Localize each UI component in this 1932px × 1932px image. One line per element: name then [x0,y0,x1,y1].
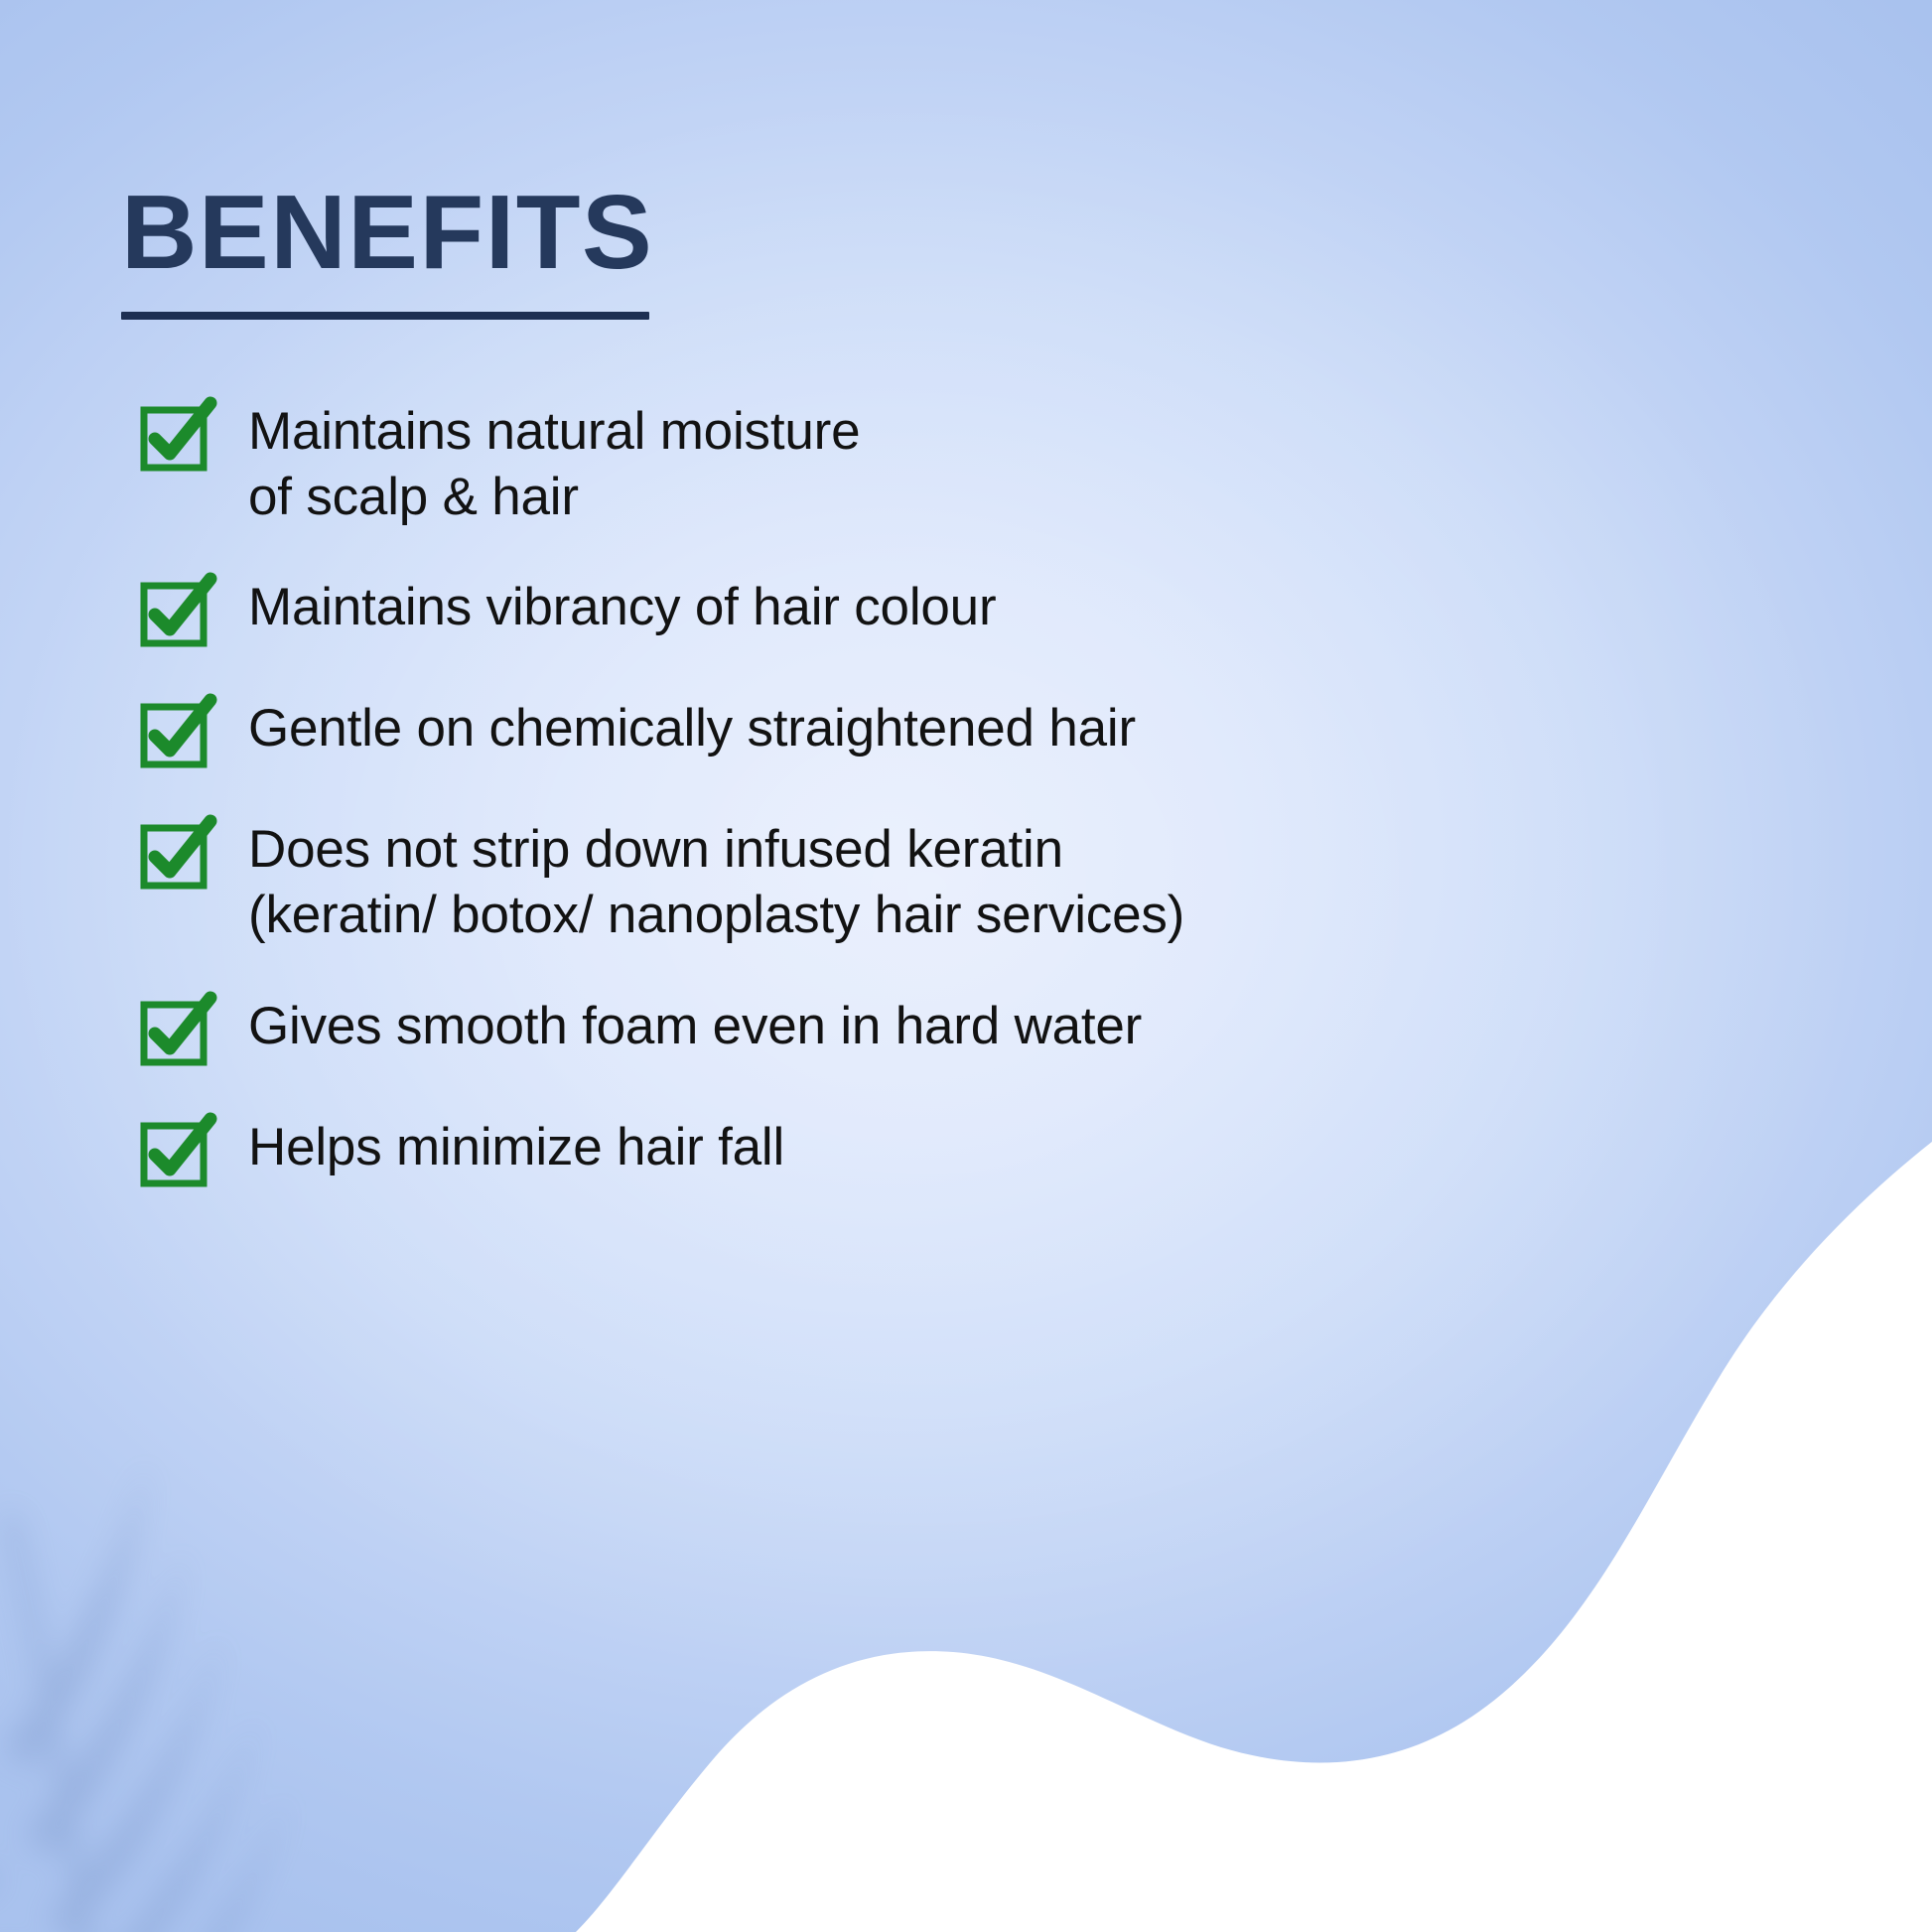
benefits-poster: BENEFITS Maintains natural moisture of s… [0,0,1932,1932]
checkbox-checked-icon [139,819,212,893]
list-item-label: Gentle on chemically straightened hair [248,694,1136,761]
title-block: BENEFITS [121,179,653,320]
benefits-list: Maintains natural moisture of scalp & ha… [139,397,1688,1190]
page-title: BENEFITS [121,179,653,286]
list-item: Helps minimize hair fall [139,1113,1688,1190]
checkbox-checked-icon [139,996,212,1069]
list-item-label: Helps minimize hair fall [248,1113,784,1180]
checkbox-checked-icon [139,577,212,650]
list-item: Maintains natural moisture of scalp & ha… [139,397,1688,529]
list-item: Does not strip down infused keratin (ker… [139,815,1688,947]
list-item-label: Does not strip down infused keratin (ker… [248,815,1184,947]
list-item-label: Maintains vibrancy of hair colour [248,573,996,640]
list-item: Gentle on chemically straightened hair [139,694,1688,771]
list-item: Gives smooth foam even in hard water [139,992,1688,1069]
list-item-label: Gives smooth foam even in hard water [248,992,1142,1059]
poster-content: BENEFITS Maintains natural moisture of s… [0,0,1932,1932]
checkbox-checked-icon [139,698,212,771]
list-item-label: Maintains natural moisture of scalp & ha… [248,397,860,529]
checkbox-checked-icon [139,401,212,475]
checkbox-checked-icon [139,1117,212,1190]
title-underline-rule [121,312,649,320]
list-item: Maintains vibrancy of hair colour [139,573,1688,650]
